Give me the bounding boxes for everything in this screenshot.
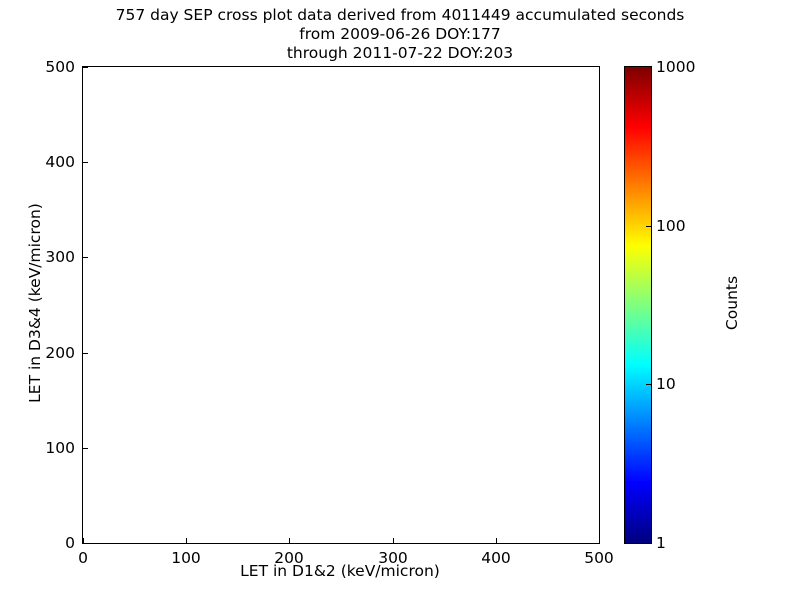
y-tick-500	[83, 67, 88, 68]
colorbar-ticklabel-1000: 1000	[656, 58, 695, 76]
y-ticklabel-300: 300	[15, 248, 75, 266]
y-tick-100	[83, 448, 88, 449]
axes-frame	[82, 66, 600, 544]
figure-canvas: 757 day SEP cross plot data derived from…	[0, 0, 800, 600]
colorbar-ticklabel-10: 10	[656, 375, 676, 393]
y-tick-0	[83, 543, 88, 544]
y-ticklabel-400: 400	[15, 153, 75, 171]
y-ticklabel-500: 500	[15, 58, 75, 76]
y-ticklabel-100: 100	[15, 439, 75, 457]
plot-title: 757 day SEP cross plot data derived from…	[0, 6, 800, 63]
title-line-1: 757 day SEP cross plot data derived from…	[0, 6, 800, 25]
colorbar-ticklabel-1: 1	[656, 534, 666, 552]
y-axis-label: LET in D3&4 (keV/micron)	[26, 163, 44, 443]
x-tick-200	[289, 538, 290, 543]
y-ticklabel-200: 200	[15, 344, 75, 362]
colorbar-label: Counts	[723, 163, 741, 443]
colorbar-tick-10	[646, 384, 651, 385]
y-tick-200	[83, 353, 88, 354]
x-tick-0	[83, 538, 84, 543]
x-tick-100	[186, 538, 187, 543]
y-tick-300	[83, 257, 88, 258]
x-axis-label: LET in D1&2 (keV/micron)	[82, 562, 598, 580]
colorbar-frame	[624, 66, 652, 544]
x-tick-500	[599, 538, 600, 543]
title-line-2: from 2009-06-26 DOY:177	[0, 25, 800, 44]
y-tick-400	[83, 162, 88, 163]
colorbar-ticklabel-100: 100	[656, 217, 686, 235]
x-tick-300	[393, 538, 394, 543]
x-tick-400	[496, 538, 497, 543]
colorbar-tick-100	[646, 226, 651, 227]
